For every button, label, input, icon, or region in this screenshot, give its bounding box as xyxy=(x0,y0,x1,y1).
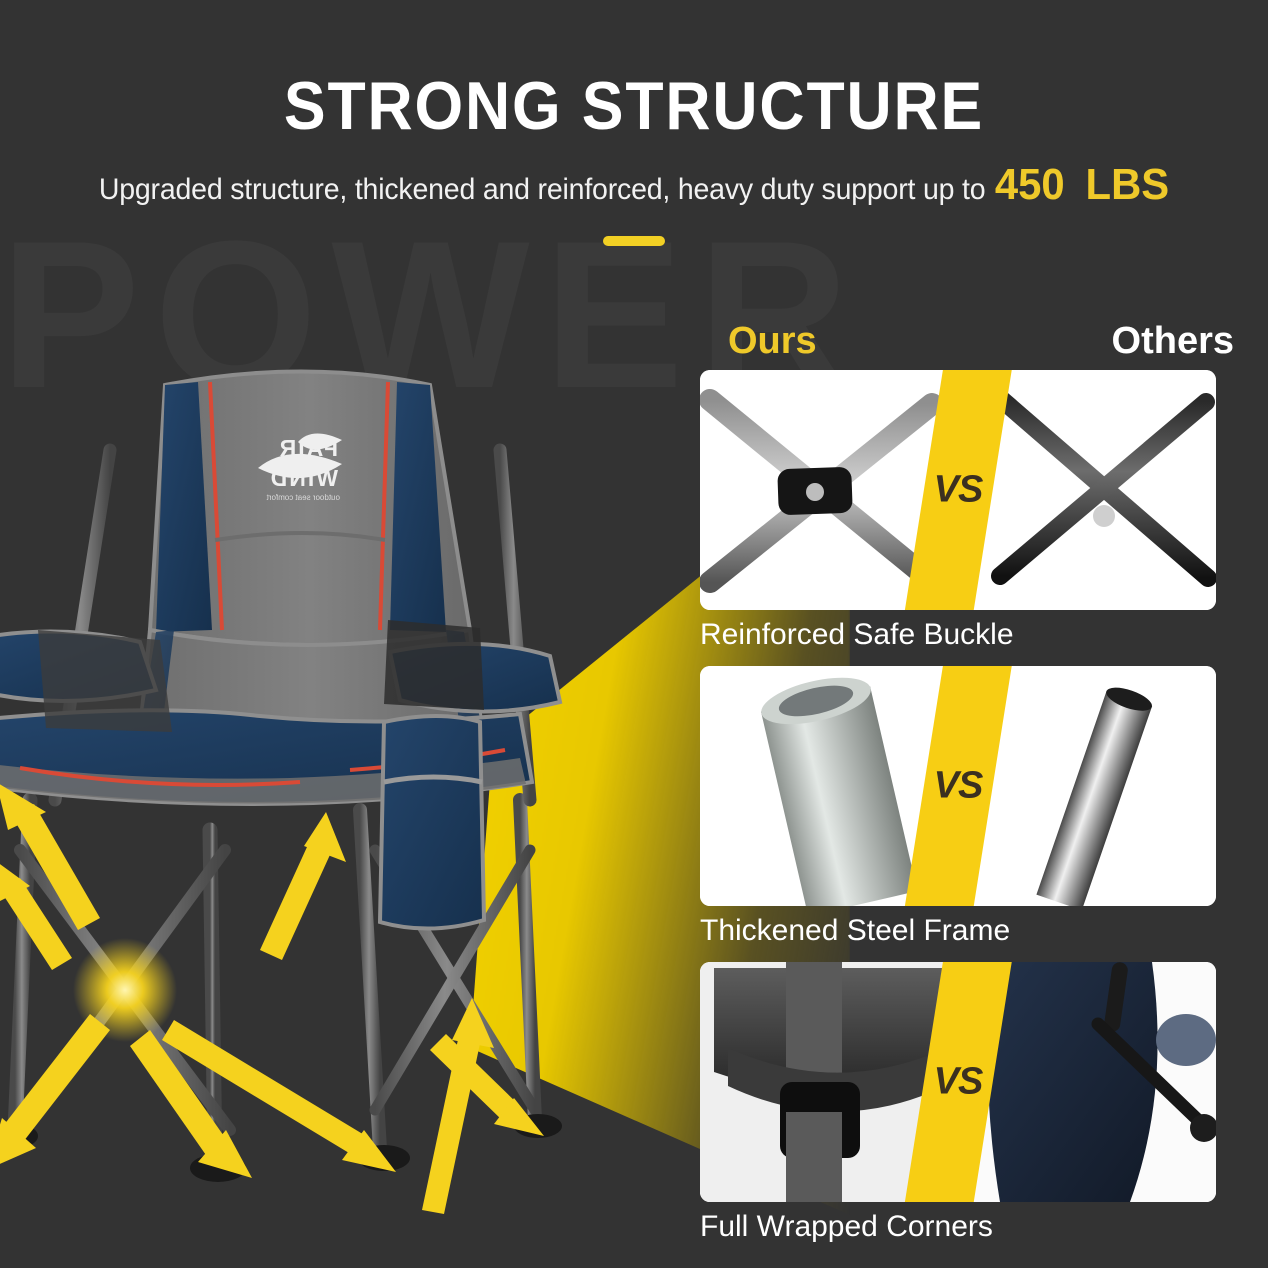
panel-image-corners: VS xyxy=(700,962,1216,1202)
arrow-up-pocket xyxy=(422,998,494,1214)
panel-image-buckle: VS xyxy=(700,370,1216,610)
chair-illustration: FAIR WIND outdoor seat comfort xyxy=(0,330,580,1230)
label-ours: Ours xyxy=(728,322,817,360)
comparison-panel-buckle: VS Reinforced Safe Buckle xyxy=(700,370,1240,652)
label-others: Others xyxy=(1112,322,1234,360)
comparison-section: Ours Others xyxy=(700,322,1240,1258)
vs-badge: VS xyxy=(934,765,983,808)
product-image-camping-chair: FAIR WIND outdoor seat comfort xyxy=(0,330,580,1230)
comparison-panel-corners: VS Full Wrapped Corners xyxy=(700,962,1240,1244)
panel-caption-frame: Thickened Steel Frame xyxy=(700,914,1240,948)
header: STRONG STRUCTURE Upgraded structure, thi… xyxy=(0,0,1268,246)
side-pocket-cooler xyxy=(380,620,484,929)
panel-image-frame: VS xyxy=(700,666,1216,906)
comparison-header: Ours Others xyxy=(700,322,1240,370)
panel-caption-buckle: Reinforced Safe Buckle xyxy=(700,618,1240,652)
weight-capacity-unit: LBS xyxy=(1086,160,1170,210)
weight-capacity-value: 450 xyxy=(995,160,1065,210)
svg-text:outdoor seat comfort: outdoor seat comfort xyxy=(266,493,340,502)
subtitle-lead: Upgraded structure, thickened and reinfo… xyxy=(99,173,986,207)
accent-divider xyxy=(603,236,665,246)
vs-badge: VS xyxy=(934,1061,983,1104)
comparison-panel-frame: VS Thickened Steel Frame xyxy=(700,666,1240,948)
arrow-up-right xyxy=(260,812,346,960)
panel-caption-corners: Full Wrapped Corners xyxy=(700,1210,1240,1244)
vs-badge: VS xyxy=(934,469,983,512)
chair-feet xyxy=(0,1114,562,1182)
page-title: STRONG STRUCTURE xyxy=(51,72,1218,140)
subtitle: Upgraded structure, thickened and reinfo… xyxy=(32,160,1237,210)
